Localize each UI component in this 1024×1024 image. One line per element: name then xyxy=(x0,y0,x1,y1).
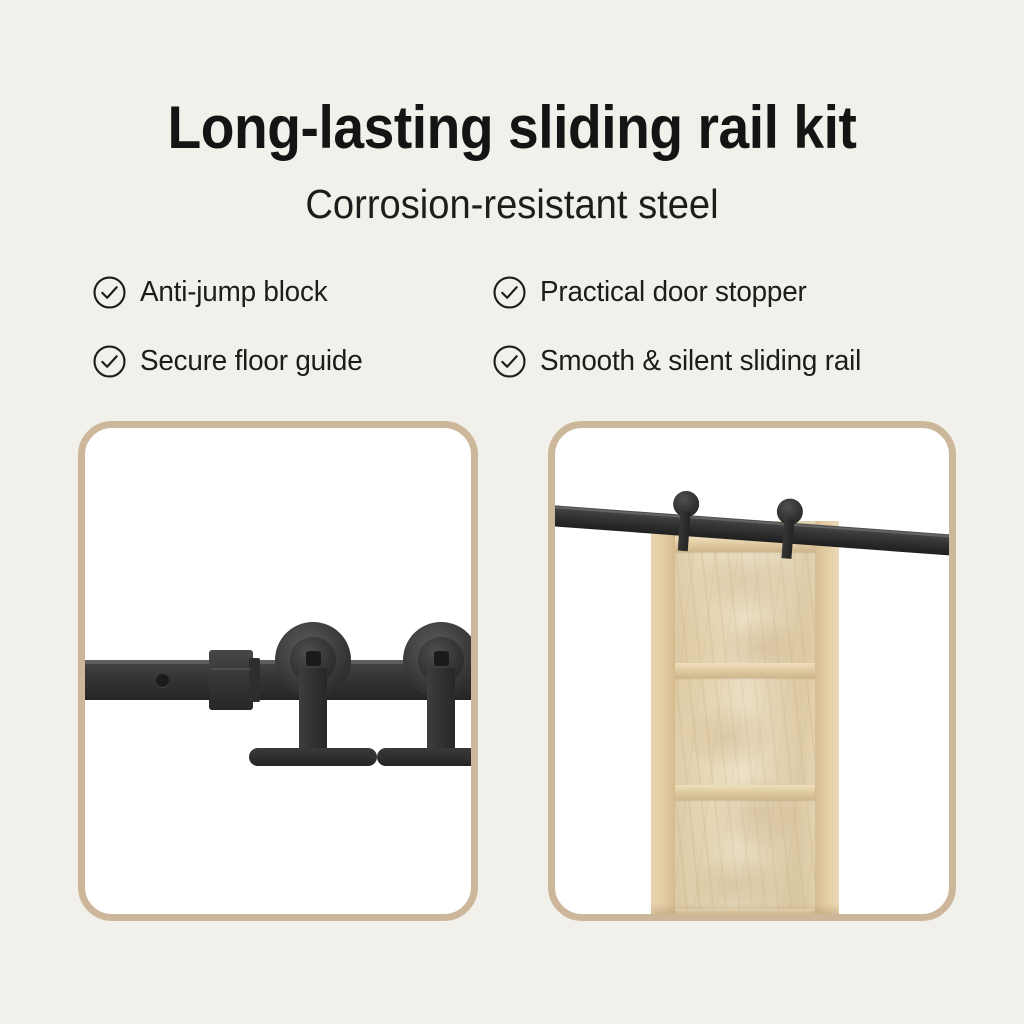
sliding-rail-bar xyxy=(555,504,949,559)
roller-hanger xyxy=(385,622,471,766)
hanger-strap xyxy=(299,668,327,758)
hanger-strap xyxy=(427,668,455,758)
feature-item-practical-door-stopper: Practical door stopper xyxy=(492,258,952,327)
header: Long-lasting sliding rail kit Corrosion-… xyxy=(0,0,1024,225)
rail-mounting-hole xyxy=(156,674,169,687)
feature-list: Anti-jump block Practical door stopper S… xyxy=(92,258,972,396)
door-floor-shadow xyxy=(651,904,839,914)
hanger-base-plate xyxy=(249,748,377,766)
wood-grain xyxy=(683,704,773,769)
roller-hanger xyxy=(257,622,369,766)
feature-item-smooth-silent-sliding-rail: Smooth & silent sliding rail xyxy=(492,327,952,396)
check-circle-icon xyxy=(492,275,527,310)
feature-label: Smooth & silent sliding rail xyxy=(540,345,861,378)
feature-label: Anti-jump block xyxy=(140,276,327,309)
sliding-track-assembly xyxy=(555,468,949,622)
feature-item-anti-jump-block: Anti-jump block xyxy=(92,258,492,327)
page-subtitle: Corrosion-resistant steel xyxy=(36,184,988,225)
roller-hardware-photo xyxy=(78,421,478,921)
photo-content xyxy=(85,428,471,914)
photo-content xyxy=(555,428,949,914)
door-rail-middle-lower xyxy=(675,785,815,800)
feature-label: Practical door stopper xyxy=(540,276,807,309)
feature-label: Secure floor guide xyxy=(140,345,363,378)
page-title: Long-lasting sliding rail kit xyxy=(41,98,983,158)
check-circle-icon xyxy=(92,275,127,310)
anti-jump-block xyxy=(209,650,253,710)
door-rail-middle-upper xyxy=(675,663,815,678)
installed-barn-door-photo xyxy=(548,421,956,921)
check-circle-icon xyxy=(492,344,527,379)
hanger-base-plate xyxy=(377,748,471,766)
feature-item-secure-floor-guide: Secure floor guide xyxy=(92,327,492,396)
check-circle-icon xyxy=(92,344,127,379)
